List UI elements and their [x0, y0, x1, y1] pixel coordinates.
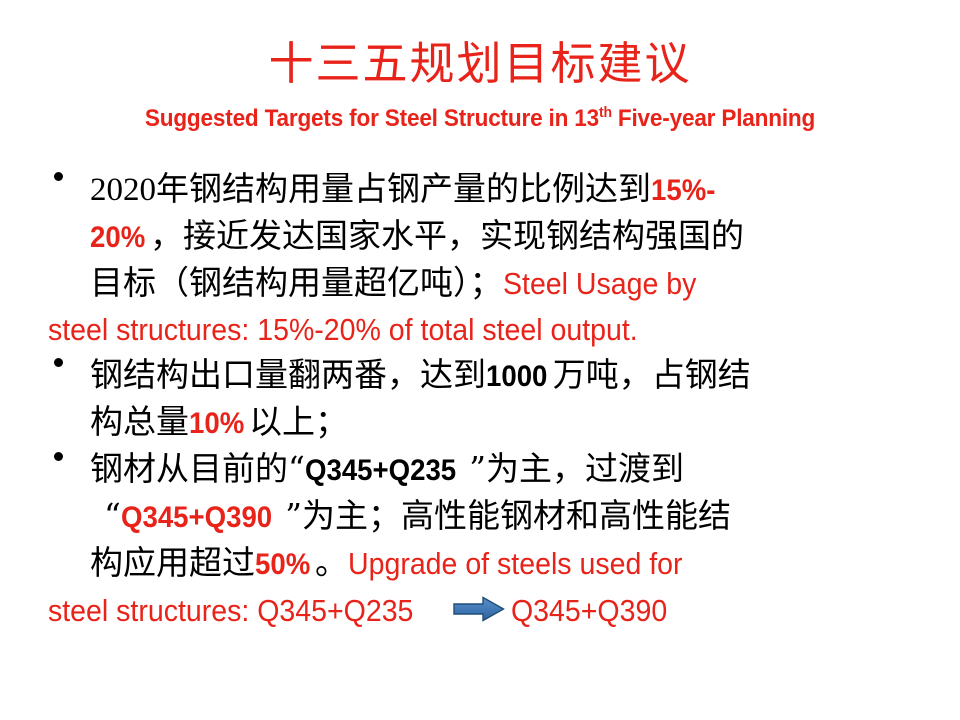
text-run: ，接近发达国家水平，实现钢结构强国的 — [150, 216, 744, 255]
text-run: 目标（钢结构用量超亿吨）； — [90, 263, 503, 302]
bullet-text: 2020年钢结构用量占钢产量的比例达到15%-20%，接近发达国家水平，实现钢结… — [90, 166, 928, 352]
text-line: steel structures: Q345+Q235Q345+Q390 — [48, 587, 928, 633]
bullet-dot-icon — [54, 172, 63, 181]
page-subtitle-english: Suggested Targets for Steel Structure in… — [29, 104, 931, 134]
bullet-3: 钢材从目前的“Q345+Q235”为主，过渡到“Q345+Q390”为主；高性能… — [48, 446, 928, 633]
text-run: Upgrade of steels used for — [348, 541, 683, 586]
text-line: 构应用超过50%。Upgrade of steels used for — [90, 540, 928, 587]
bullet-list: 2020年钢结构用量占钢产量的比例达到15%-20%，接近发达国家水平，实现钢结… — [48, 166, 928, 633]
text-run: 构总量 — [90, 402, 189, 441]
text-run: steel structures: 15%-20% of total steel… — [48, 307, 638, 352]
bullet-text: 钢结构出口量翻两番，达到1000万吨，占钢结构总量10%以上； — [90, 352, 928, 446]
bullet-dot-icon — [54, 452, 63, 461]
subtitle-prefix: Suggested Targets for Steel Structure in… — [145, 105, 599, 132]
text-line: 钢结构出口量翻两番，达到1000万吨，占钢结 — [90, 352, 928, 399]
text-run: 构应用超过 — [90, 543, 255, 582]
text-run: “ — [104, 496, 121, 535]
text-run: ”为主，过渡到 — [469, 449, 684, 488]
text-run: 年钢结构用量占钢产量的比例达到 — [156, 169, 651, 208]
text-run: 钢结构出口量翻两番，达到 — [90, 355, 486, 394]
text-run: Steel Usage by — [503, 261, 696, 306]
text-line: 构总量10%以上； — [90, 399, 928, 446]
text-run: 钢材从目前的“ — [90, 449, 305, 488]
text-run: Q345+Q235 — [305, 448, 456, 493]
text-line: 2020年钢结构用量占钢产量的比例达到15%- — [90, 166, 928, 213]
text-run: steel structures: Q345+Q235 — [48, 588, 413, 633]
subtitle-suffix: Five-year Planning — [612, 105, 815, 132]
bullet-text: 钢材从目前的“Q345+Q235”为主，过渡到“Q345+Q390”为主；高性能… — [90, 446, 928, 633]
bullet-2: 钢结构出口量翻两番，达到1000万吨，占钢结构总量10%以上； — [48, 352, 928, 446]
text-run: 2020 — [90, 172, 156, 208]
text-run: Q345+Q390 — [511, 588, 667, 633]
text-line: 目标（钢结构用量超亿吨）；Steel Usage by — [90, 260, 928, 306]
bullet-dot-icon — [54, 358, 63, 367]
text-run: 20% — [90, 215, 145, 260]
slide-canvas: 十三五规划目标建议 Suggested Targets for Steel St… — [0, 0, 960, 720]
text-run: 。 — [315, 543, 348, 582]
text-line: steel structures: 15%-20% of total steel… — [48, 306, 928, 352]
text-run: 以上； — [249, 402, 348, 441]
text-line: 20%，接近发达国家水平，实现钢结构强国的 — [90, 213, 928, 260]
text-run: 1000 — [486, 354, 547, 399]
text-line: 钢材从目前的“Q345+Q235”为主，过渡到 — [90, 446, 928, 493]
right-arrow-icon — [453, 596, 505, 622]
bullet-1: 2020年钢结构用量占钢产量的比例达到15%-20%，接近发达国家水平，实现钢结… — [48, 166, 928, 352]
text-run: 50% — [255, 542, 310, 587]
text-run: 10% — [189, 401, 244, 446]
text-run: 万吨，占钢结 — [553, 355, 751, 394]
page-title-chinese: 十三五规划目标建议 — [0, 38, 960, 90]
text-run: 15%- — [651, 168, 715, 213]
subtitle-ordinal-superscript: th — [599, 105, 612, 121]
text-run: Q345+Q390 — [121, 495, 272, 540]
text-line: “Q345+Q390”为主；高性能钢材和高性能结 — [104, 493, 928, 540]
text-run: ”为主；高性能钢材和高性能结 — [285, 496, 731, 535]
